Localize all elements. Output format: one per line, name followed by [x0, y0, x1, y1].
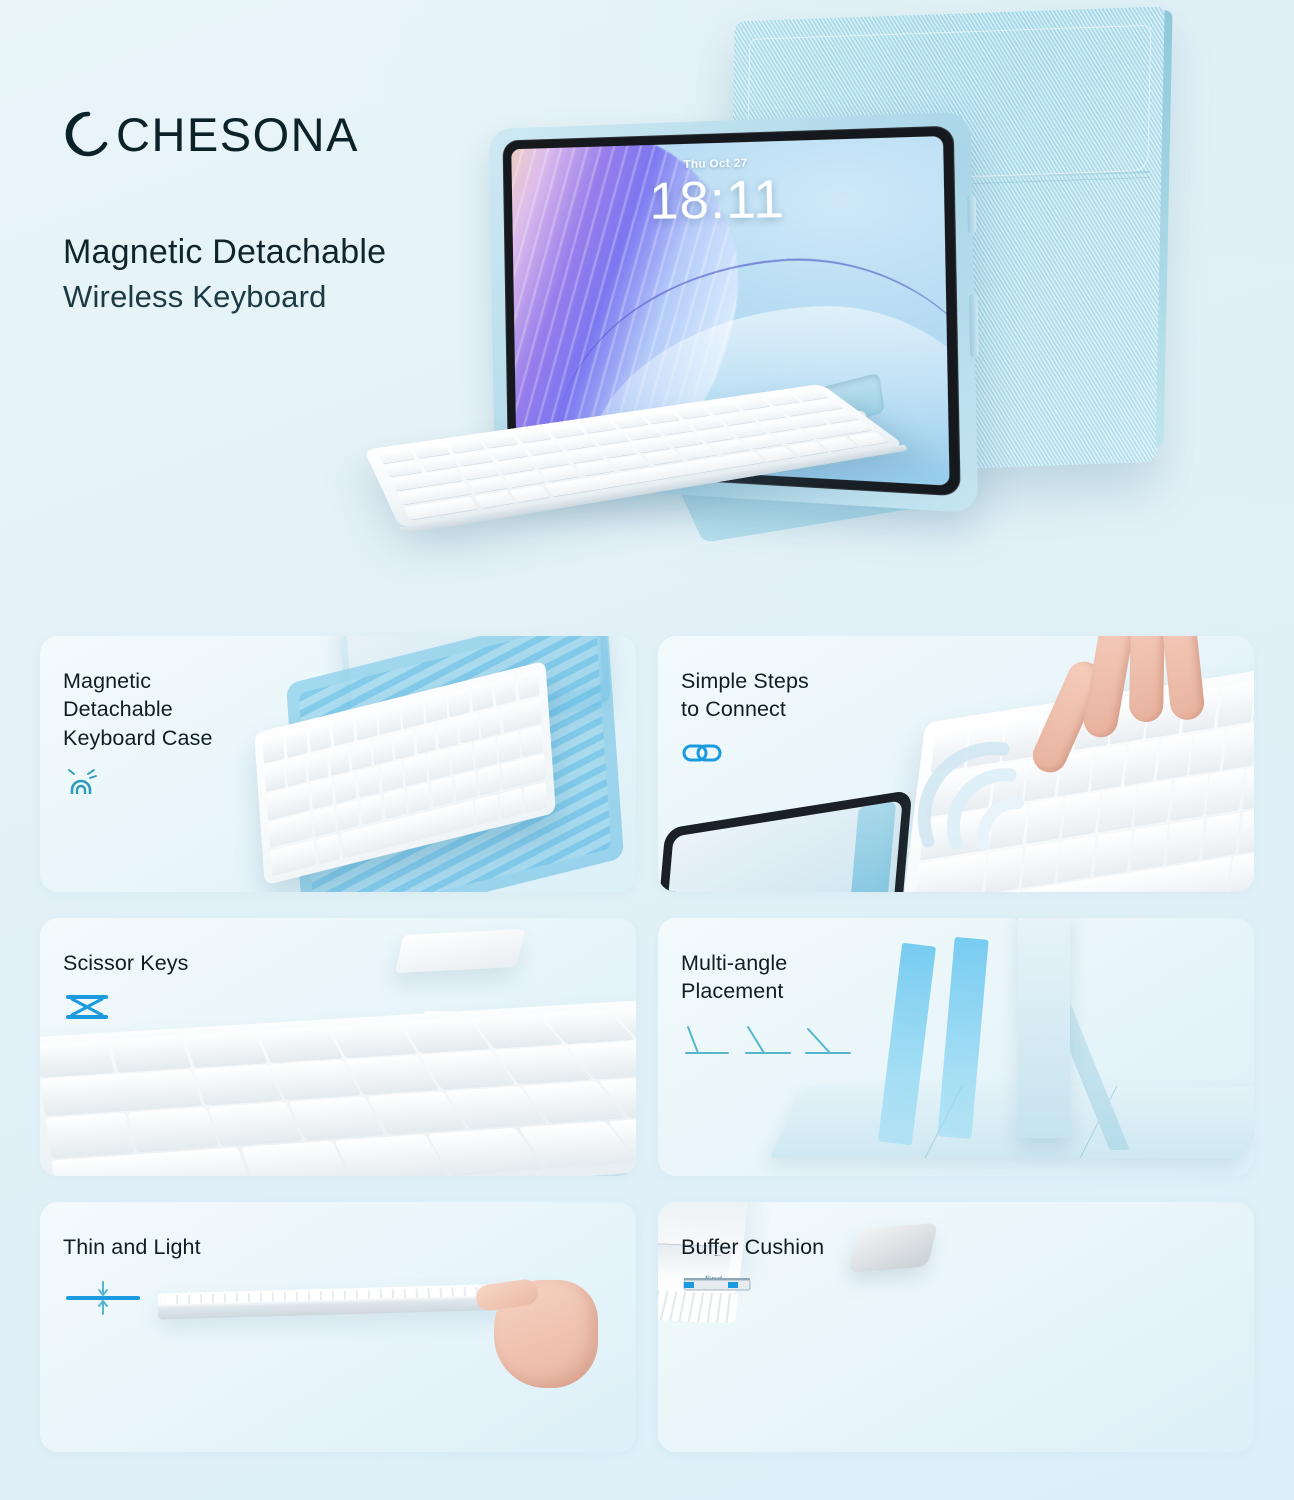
- scissor-keyboard-closeup: [40, 998, 636, 1176]
- feature-card-multi-angle[interactable]: Multi-angle Placement: [658, 918, 1254, 1176]
- feature-row-1: Magnetic Detachable Keyboard Case: [0, 636, 1294, 892]
- brand-logo-lockup: CHESONA: [62, 108, 359, 160]
- feature-title: Magnetic Detachable Keyboard Case: [63, 667, 213, 752]
- hero-product-scene: Thu Oct 27 18:11: [340, 0, 1280, 630]
- folded-case-base: [770, 1086, 1254, 1158]
- feature-row-2: Scissor Keys Multi-angle Pla: [0, 918, 1294, 1176]
- tablet-volume-button: [967, 195, 976, 233]
- hero-section: CHESONA Magnetic Detachable Wireless Key…: [0, 0, 1294, 630]
- feature-title: Multi-angle Placement: [681, 949, 787, 1006]
- floating-keycap: [395, 929, 526, 973]
- feature-card-magnetic-detachable[interactable]: Magnetic Detachable Keyboard Case: [40, 636, 636, 892]
- rubber-cushion-block: [848, 1223, 938, 1274]
- feature-row-3: Thin and Light End ←: [0, 1202, 1294, 1452]
- feature-card-thin-and-light[interactable]: Thin and Light: [40, 1202, 636, 1452]
- feature-cards-grid: Magnetic Detachable Keyboard Case: [0, 636, 1294, 1478]
- tablet-side-button: [969, 294, 979, 357]
- thickness-arrows-icon: [64, 1278, 142, 1323]
- cushion-layer-icon: [682, 1274, 752, 1301]
- tablet-upright: [1018, 918, 1070, 1138]
- folio-edge: [1155, 10, 1172, 447]
- brand-name: CHESONA: [116, 111, 359, 158]
- feature-title: Thin and Light: [63, 1233, 201, 1261]
- feature-title: Buffer Cushion: [681, 1233, 824, 1261]
- feature-title: Scissor Keys: [63, 949, 188, 977]
- feature-card-simple-steps[interactable]: Simple Steps to Connect: [658, 636, 1254, 892]
- keyboard-key-strip: [166, 1286, 492, 1304]
- feature-card-scissor-keys[interactable]: Scissor Keys: [40, 918, 636, 1176]
- chain-link-icon: [682, 740, 722, 771]
- multi-angle-stand-icon: [682, 1023, 862, 1066]
- holding-hand: [470, 1258, 620, 1398]
- pointing-hand: [1038, 636, 1218, 806]
- feature-title: Simple Steps to Connect: [681, 667, 809, 724]
- lockscreen-time: 18:11: [512, 165, 945, 233]
- scissor-mechanism-icon: [64, 993, 110, 1026]
- feature-card-buffer-cushion[interactable]: End ← PgUp ↗ Home → Option: [658, 1202, 1254, 1452]
- magnet-icon: [64, 766, 98, 805]
- chesona-crescent-c-logo-icon: [62, 108, 118, 160]
